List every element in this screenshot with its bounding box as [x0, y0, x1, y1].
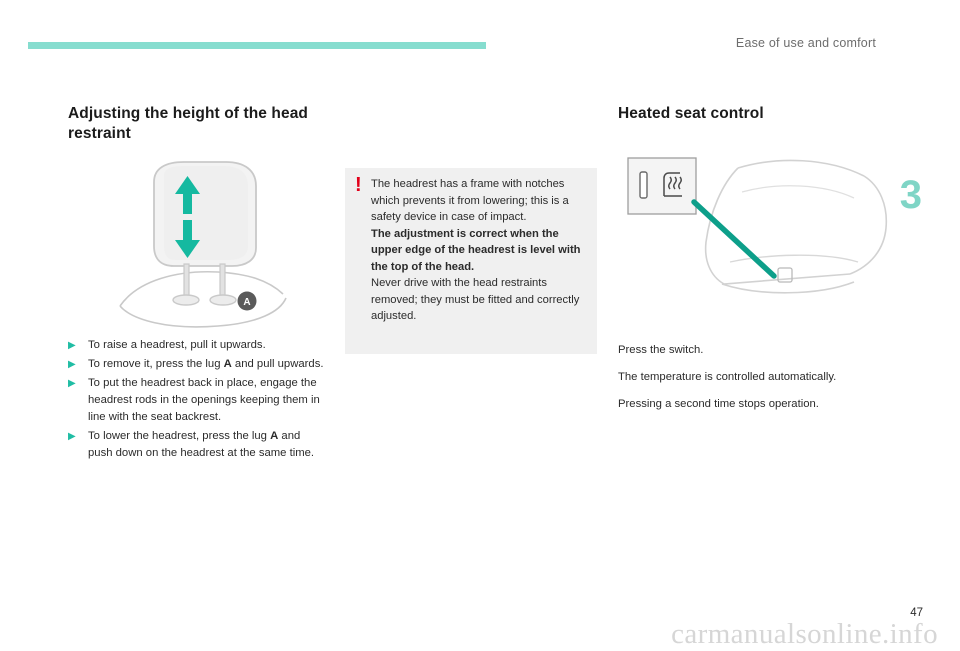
header-accent-bar: [28, 42, 486, 49]
heated-seat-paragraph-1: The temperature is controlled automatica…: [618, 369, 888, 385]
warning-exclamation-icon: !: [355, 175, 362, 195]
list-item: ▶ To lower the headrest, press the lug A…: [68, 428, 326, 462]
watermark: carmanualsonline.info: [671, 618, 938, 651]
bullet-marker-icon: ▶: [68, 356, 88, 373]
heated-seat-paragraph-0: Press the switch.: [618, 342, 888, 358]
list-item: ▶ To raise a headrest, pull it upwards.: [68, 337, 326, 354]
bullet-marker-icon: ▶: [68, 375, 88, 392]
right-column: Heated seat control: [618, 104, 883, 132]
warning-paragraph-0: The headrest has a frame with notches wh…: [371, 176, 585, 226]
heated-seat-instructions: Press the switch. The temperature is con…: [618, 342, 888, 423]
header-section-title: Ease of use and comfort: [736, 36, 876, 50]
list-item: ▶ To remove it, press the lug A and pull…: [68, 356, 326, 373]
page: Ease of use and comfort 3 Adjusting the …: [0, 0, 960, 649]
warning-paragraph-1: The adjustment is correct when the upper…: [371, 226, 585, 276]
left-column: Adjusting the height of the head restrai…: [68, 104, 318, 153]
bullet-marker-icon: ▶: [68, 337, 88, 354]
warning-text: The headrest has a frame with notches wh…: [371, 176, 585, 325]
warning-paragraph-2: Never drive with the head restraints rem…: [371, 275, 585, 325]
heated-seat-paragraph-2: Pressing a second time stops operation.: [618, 396, 888, 412]
list-item-text-3: To lower the headrest, press the lug A a…: [88, 428, 326, 462]
svg-text:A: A: [243, 297, 250, 308]
instruction-list: ▶ To raise a headrest, pull it upwards. …: [68, 337, 326, 464]
list-item-text-1: To remove it, press the lug A and pull u…: [88, 356, 324, 373]
page-title-head-restraint: Adjusting the height of the head restrai…: [68, 104, 318, 145]
warning-box: ! The headrest has a frame with notches …: [345, 168, 597, 354]
list-item-text-0: To raise a headrest, pull it upwards.: [88, 337, 266, 354]
chapter-number: 3: [900, 175, 922, 215]
headrest-illustration: A: [108, 160, 308, 338]
page-title-heated-seat: Heated seat control: [618, 104, 883, 124]
list-item: ▶ To put the headrest back in place, eng…: [68, 375, 326, 426]
list-item-text-2: To put the headrest back in place, engag…: [88, 375, 326, 426]
bullet-marker-icon: ▶: [68, 428, 88, 445]
heated-seat-illustration: [618, 150, 898, 330]
